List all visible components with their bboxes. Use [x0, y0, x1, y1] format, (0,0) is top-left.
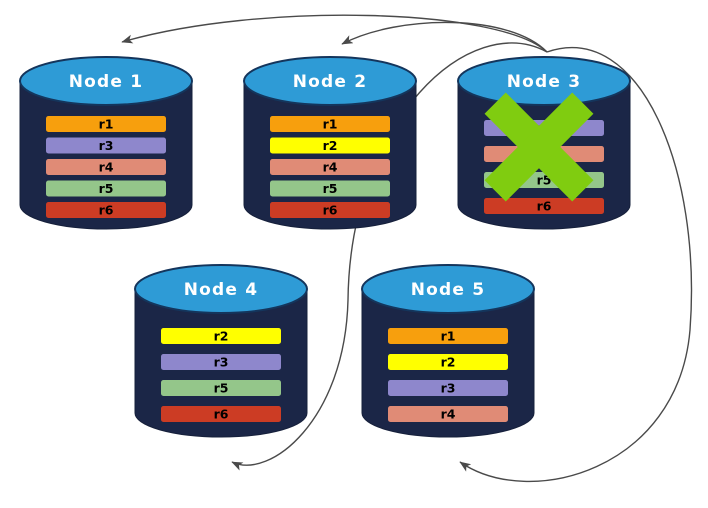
- record-label-r6: r6: [323, 203, 338, 218]
- nodes-layer: Node 1r1r3r4r5r6Node 2r1r2r4r5r6Node 3r3…: [20, 57, 630, 437]
- record-label-r5: r5: [214, 381, 229, 396]
- record-label-r4: r4: [323, 160, 338, 175]
- record-label-r6: r6: [537, 199, 552, 214]
- record-label-r2: r2: [441, 355, 456, 370]
- record-label-r5: r5: [323, 181, 338, 196]
- record-label-r4: r4: [99, 160, 114, 175]
- edge-node3-to-node1: [122, 15, 547, 52]
- record-label-r3: r3: [214, 355, 229, 370]
- database-cylinder-node-5[interactable]: Node 5r1r2r3r4: [362, 265, 534, 437]
- diagram-root: Node 1r1r3r4r5r6Node 2r1r2r4r5r6Node 3r3…: [0, 0, 708, 508]
- record-label-r1: r1: [441, 329, 456, 344]
- node-title: Node 5: [411, 280, 486, 300]
- record-label-r2: r2: [214, 329, 229, 344]
- record-label-r4: r4: [441, 407, 456, 422]
- node-title: Node 1: [69, 72, 144, 92]
- database-cylinder-node-3[interactable]: Node 3r3r4r5r6: [458, 57, 630, 229]
- edge-node3-to-node2: [342, 22, 547, 52]
- database-cylinder-node-1[interactable]: Node 1r1r3r4r5r6: [20, 57, 192, 229]
- record-label-r5: r5: [99, 181, 114, 196]
- record-label-r2: r2: [323, 138, 338, 153]
- record-label-r6: r6: [99, 203, 114, 218]
- node-title: Node 2: [293, 72, 368, 92]
- database-cylinder-node-2[interactable]: Node 2r1r2r4r5r6: [244, 57, 416, 229]
- node-title: Node 3: [507, 72, 582, 92]
- record-label-r1: r1: [99, 117, 114, 132]
- record-label-r6: r6: [214, 407, 229, 422]
- record-label-r3: r3: [99, 138, 114, 153]
- record-label-r3: r3: [441, 381, 456, 396]
- record-label-r1: r1: [323, 117, 338, 132]
- database-cylinder-node-4[interactable]: Node 4r2r3r5r6: [135, 265, 307, 437]
- diagram-canvas: Node 1r1r3r4r5r6Node 2r1r2r4r5r6Node 3r3…: [0, 0, 708, 508]
- node-title: Node 4: [184, 280, 259, 300]
